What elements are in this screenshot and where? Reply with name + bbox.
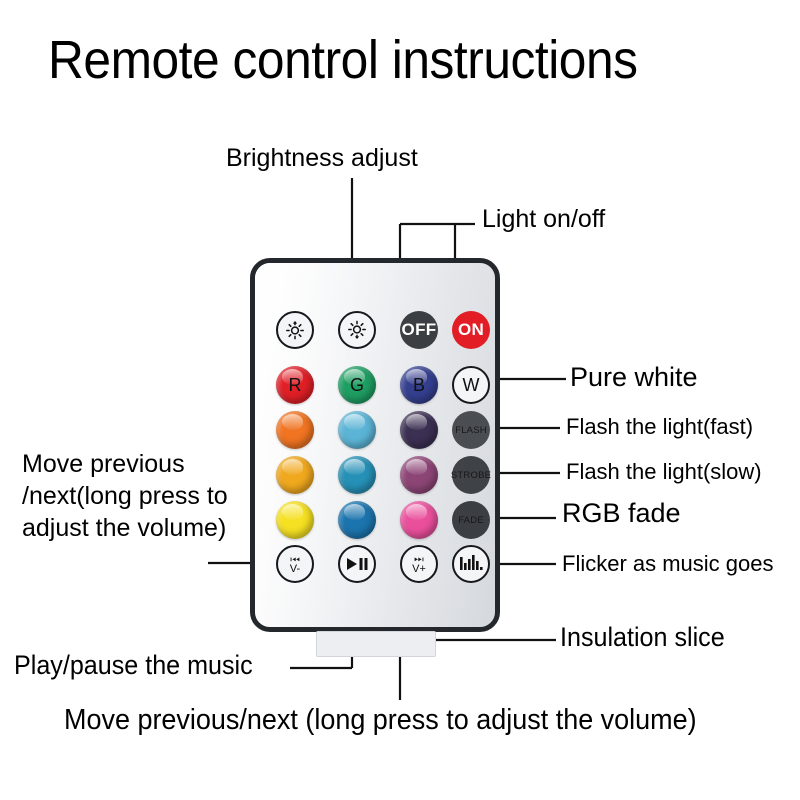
remote-control-instructions-diagram: Remote control instructions: [0, 0, 800, 800]
color-pink-button[interactable]: [400, 501, 438, 539]
remote-button-grid: OFFONRGBWFLASHSTROBEFADE V- V+: [255, 263, 505, 637]
color-red-button[interactable]: R: [276, 366, 314, 404]
label-pure-white: Pure white: [570, 362, 698, 394]
music-mode-button[interactable]: [452, 545, 490, 583]
label-insulation-slice: Insulation slice: [560, 622, 725, 654]
color-orange-button[interactable]: [276, 411, 314, 449]
light-on-button-label: ON: [458, 320, 484, 340]
flash-fast-button-label: FLASH: [455, 425, 487, 436]
color-teal-button[interactable]: [338, 456, 376, 494]
color-green-button-label: G: [350, 375, 364, 396]
color-blue-button-label: B: [413, 375, 425, 396]
sun-down-icon: [345, 318, 369, 342]
pure-white-button[interactable]: W: [452, 366, 490, 404]
color-skyblue-button[interactable]: [338, 411, 376, 449]
color-blue2-button[interactable]: [338, 501, 376, 539]
flash-slow-button-label: STROBE: [451, 470, 491, 481]
color-green-button[interactable]: G: [338, 366, 376, 404]
play-pause-button[interactable]: [338, 545, 376, 583]
sun-up-icon: [283, 318, 307, 342]
music-levels-icon: [458, 554, 484, 574]
label-flash-fast: Flash the light(fast): [566, 414, 753, 440]
color-yellow-button[interactable]: [276, 501, 314, 539]
label-move-prev-next-bottom: Move previous/next (long press to adjust…: [64, 703, 697, 737]
color-purple-button[interactable]: [400, 456, 438, 494]
play-pause-icon: [343, 554, 371, 574]
label-brightness-adjust: Brightness adjust: [226, 144, 418, 174]
flash-fast-button[interactable]: FLASH: [452, 411, 490, 449]
remote-control-body: OFFONRGBWFLASHSTROBEFADE V- V+: [250, 258, 500, 632]
brightness-up-button[interactable]: [276, 311, 314, 349]
rgb-fade-button[interactable]: FADE: [452, 501, 490, 539]
insulation-slice-tab[interactable]: [316, 631, 436, 657]
light-on-button[interactable]: ON: [452, 311, 490, 349]
label-move-prev-next-left: Move previous /next(long press to adjust…: [22, 448, 228, 544]
brightness-down-button[interactable]: [338, 311, 376, 349]
label-play-pause-the-music: Play/pause the music: [14, 650, 253, 682]
page-title: Remote control instructions: [48, 30, 638, 90]
next-track-icon: V+: [405, 555, 433, 574]
pure-white-button-label: W: [463, 375, 480, 396]
label-flash-slow: Flash the light(slow): [566, 459, 762, 485]
color-red-button-label: R: [289, 375, 302, 396]
color-amber-button[interactable]: [276, 456, 314, 494]
label-light-on-off: Light on/off: [482, 205, 605, 235]
label-flicker-as-music-goes: Flicker as music goes: [562, 551, 774, 577]
next-volume-up-button[interactable]: V+: [400, 545, 438, 583]
color-blue-button[interactable]: B: [400, 366, 438, 404]
label-rgb-fade: RGB fade: [562, 498, 681, 530]
flash-slow-button[interactable]: STROBE: [452, 456, 490, 494]
color-darkpurple-button[interactable]: [400, 411, 438, 449]
previous-volume-down-button[interactable]: V-: [276, 545, 314, 583]
rgb-fade-button-label: FADE: [458, 515, 484, 526]
light-off-button-label: OFF: [402, 320, 437, 340]
prev-track-icon: V-: [281, 555, 309, 574]
light-off-button[interactable]: OFF: [400, 311, 438, 349]
